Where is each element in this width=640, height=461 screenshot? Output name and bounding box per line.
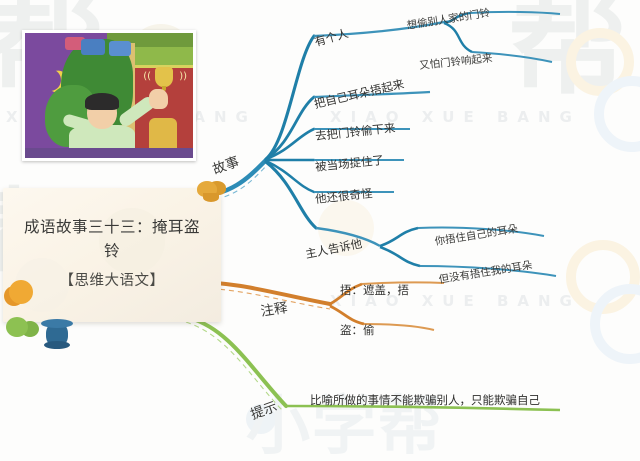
sound-mark-right: )) <box>179 71 187 82</box>
mindmap-canvas: 帮 帮 帮 XIAO XUE BANG XIAO XUE BANG XIAO X… <box>0 0 640 461</box>
clay-ball-orange <box>9 280 33 304</box>
page-subtitle: 【思维大语文】 <box>60 269 165 290</box>
link-owner-2 <box>380 247 420 266</box>
node-note-1[interactable]: 捂：遮盖，捂 <box>340 282 409 298</box>
door-bell-icon <box>155 67 173 87</box>
illustration-lion-door-knocker <box>149 118 177 152</box>
trunk-tip <box>190 318 286 406</box>
link-story-6 <box>266 162 316 228</box>
link-owner-1 <box>380 228 418 246</box>
clay-pin-blue <box>46 322 68 346</box>
link-story-1 <box>266 36 314 159</box>
node-tip-1[interactable]: 比喻所做的事情不能欺骗别人，只能欺骗自己 <box>310 392 540 408</box>
link-person-2 <box>444 23 472 52</box>
illustration-hand <box>149 89 168 109</box>
clay-pin-orange <box>197 181 217 197</box>
branch-label-notes[interactable]: 注释 <box>259 296 289 320</box>
illustration-ground <box>25 148 193 158</box>
node-note-2[interactable]: 盗：偷 <box>340 322 375 338</box>
illustration-hair <box>85 93 119 110</box>
story-illustration: (( )) <box>22 30 196 161</box>
center-topic-card[interactable]: 成语故事三十三：掩耳盗铃 【思维大语文】 <box>3 188 221 322</box>
clay-ball-green <box>6 317 28 337</box>
illustration-lantern-1 <box>81 39 105 55</box>
sound-mark-left: (( <box>143 71 151 82</box>
page-title: 成语故事三十三：掩耳盗铃 <box>17 216 207 263</box>
underline-notes-2 <box>364 324 434 330</box>
illustration-lantern-2 <box>109 41 131 56</box>
